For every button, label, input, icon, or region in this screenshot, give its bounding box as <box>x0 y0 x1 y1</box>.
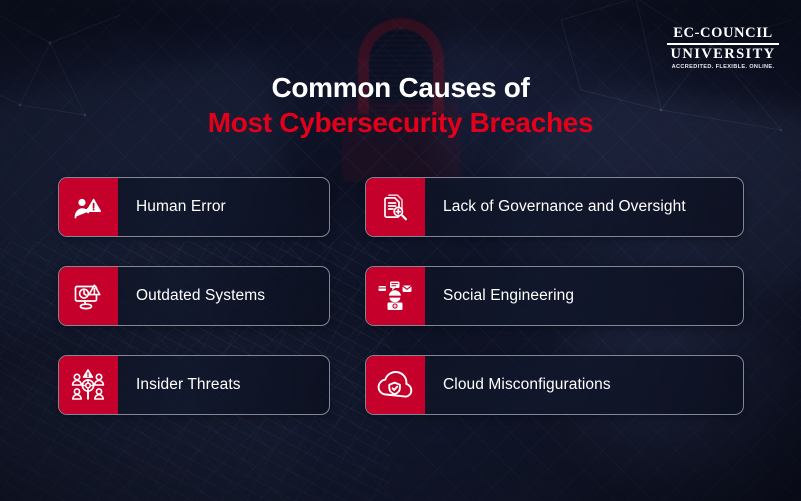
causes-row: Insider Threats Cloud Misconfigurations <box>58 355 744 415</box>
infographic-poster: EC-COUNCIL UNIVERSITY ACCREDITED. FLEXIB… <box>0 0 801 501</box>
person-warning-icon <box>58 177 118 237</box>
causes-grid: Human Error Lack of Governance and Overs… <box>58 177 744 415</box>
cause-card-label: Lack of Governance and Oversight <box>425 178 686 236</box>
cause-card-label: Cloud Misconfigurations <box>425 356 611 414</box>
ec-council-university-logo: EC-COUNCIL UNIVERSITY ACCREDITED. FLEXIB… <box>667 26 779 70</box>
causes-row: Human Error Lack of Governance and Overs… <box>58 177 744 237</box>
cloud-shield-icon <box>365 355 425 415</box>
people-magnifier-icon <box>58 355 118 415</box>
logo-line-ec-council: EC-COUNCIL <box>667 26 779 41</box>
monitor-clock-warning-icon <box>58 266 118 326</box>
title-line-primary: Common Causes of <box>0 72 801 104</box>
title-line-accent: Most Cybersecurity Breaches <box>0 107 801 139</box>
cause-card-lack-of-governance[interactable]: Lack of Governance and Oversight <box>365 177 744 237</box>
logo-line-university: UNIVERSITY <box>667 47 779 62</box>
logo-tagline: ACCREDITED. FLEXIBLE. ONLINE. <box>667 64 779 70</box>
cause-card-label: Outdated Systems <box>118 267 265 325</box>
cause-card-insider-threats[interactable]: Insider Threats <box>58 355 330 415</box>
causes-row: Outdated Systems <box>58 266 744 326</box>
cause-card-outdated-systems[interactable]: Outdated Systems <box>58 266 330 326</box>
cause-card-label: Insider Threats <box>118 356 241 414</box>
logo-divider <box>667 43 779 45</box>
page-title: Common Causes of Most Cybersecurity Brea… <box>0 72 801 140</box>
cause-card-social-engineering[interactable]: Social Engineering <box>365 266 744 326</box>
cause-card-cloud-misconfigurations[interactable]: Cloud Misconfigurations <box>365 355 744 415</box>
document-magnifier-icon <box>365 177 425 237</box>
cause-card-label: Social Engineering <box>425 267 574 325</box>
cause-card-label: Human Error <box>118 178 226 236</box>
hacker-phishing-icon <box>365 266 425 326</box>
cause-card-human-error[interactable]: Human Error <box>58 177 330 237</box>
